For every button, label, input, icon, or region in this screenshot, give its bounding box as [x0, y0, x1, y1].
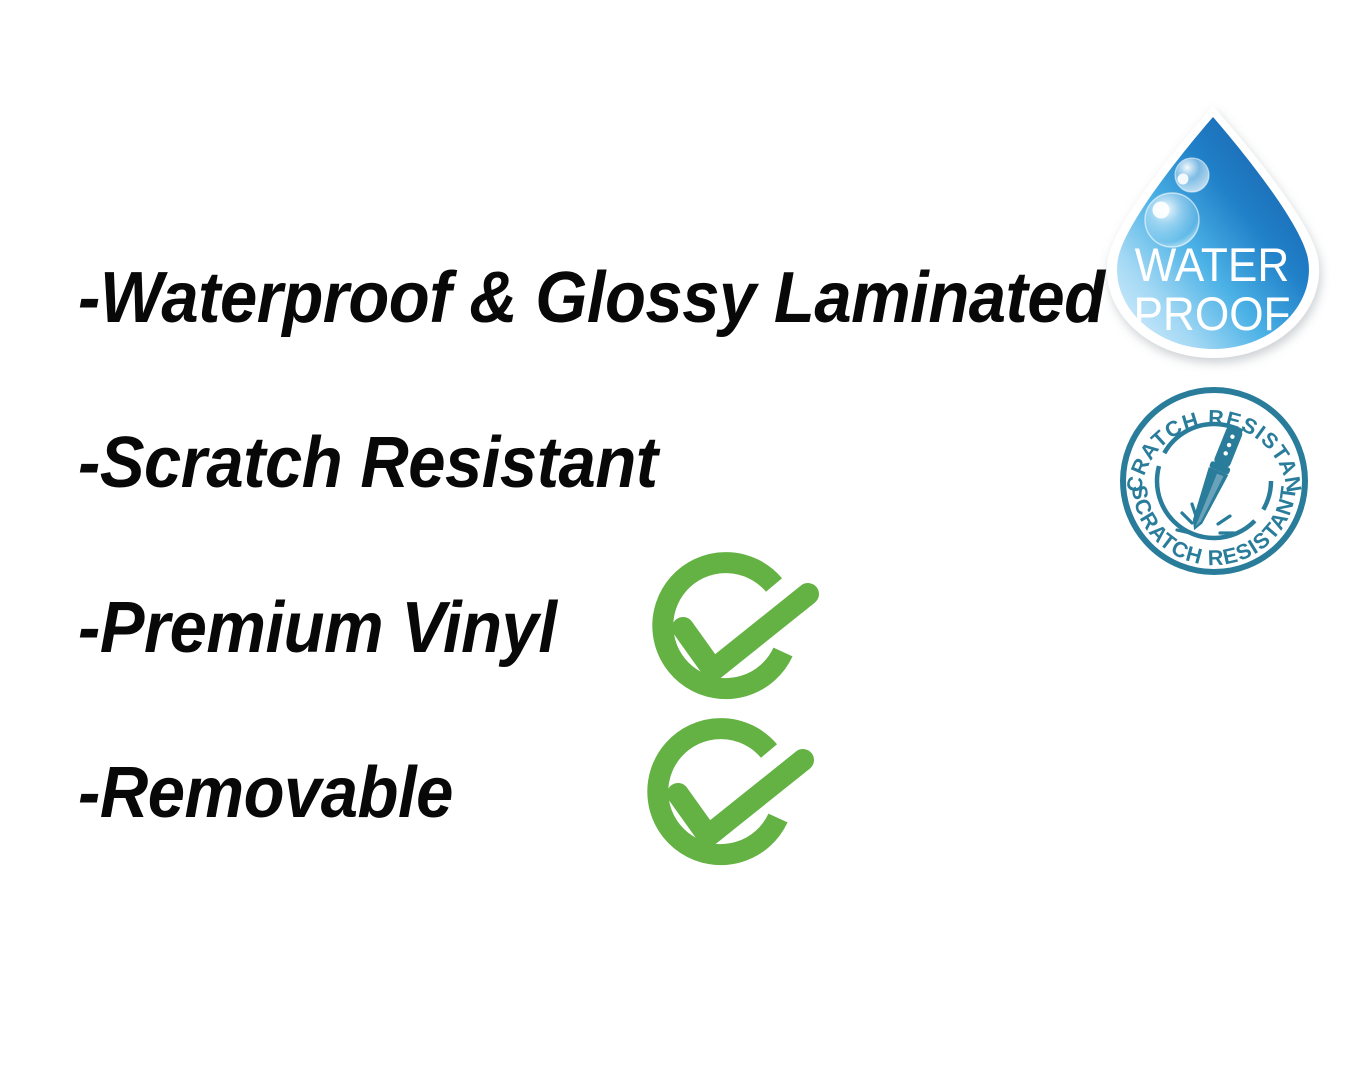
check-circle-icon — [640, 552, 830, 722]
knife-stamp-icon: SCRATCH RESISTANT SCRATCH RESISTANT — [1114, 383, 1314, 578]
check-circle-premium-vinyl — [640, 552, 830, 722]
feature-list-graphic: -Waterproof & Glossy Laminated -Scratch … — [0, 0, 1359, 1080]
feature-item-scratch-resistant: -Scratch Resistant — [78, 427, 658, 499]
check-circle-icon — [635, 718, 825, 888]
feature-item-premium-vinyl: -Premium Vinyl — [78, 592, 556, 664]
waterproof-line2: PROOF — [1133, 288, 1290, 341]
waterproof-line1: WATER — [1135, 239, 1290, 292]
waterproof-badge: WATER PROOF — [1096, 100, 1330, 375]
feature-item-waterproof-glossy: -Waterproof & Glossy Laminated — [78, 262, 1105, 334]
feature-item-removable: -Removable — [78, 757, 453, 829]
check-circle-removable — [635, 718, 825, 888]
scratch-resistant-badge: SCRATCH RESISTANT SCRATCH RESISTANT — [1114, 383, 1314, 578]
knife-glyph — [1185, 423, 1246, 534]
water-drop-icon: WATER PROOF — [1096, 100, 1330, 375]
